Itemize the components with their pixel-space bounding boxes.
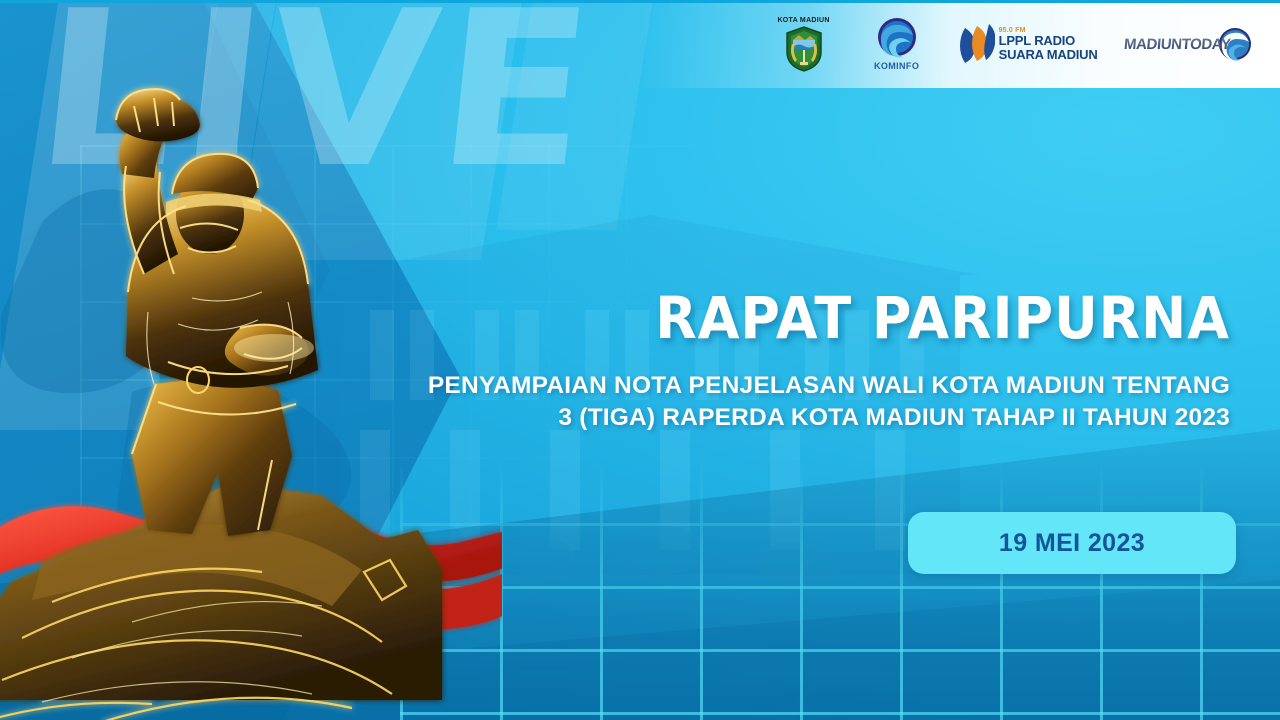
- background-grid-bottomright: [400, 460, 1280, 720]
- broadcast-logo-strip: KOTA MADIUN KOMINFO: [640, 0, 1280, 88]
- logo-kominfo: KOMINFO: [861, 17, 933, 71]
- kota-madiun-shield-icon: [784, 26, 824, 72]
- logo-kota-madiun: KOTA MADIUN: [773, 17, 835, 72]
- lppl-line-2: SUARA MADIUN: [999, 48, 1098, 61]
- page-title: RAPAT PARIPURNA: [655, 284, 1230, 352]
- top-edge-accent: [0, 0, 1280, 3]
- kota-madiun-label: KOTA MADIUN: [777, 17, 829, 24]
- event-date-badge: 19 MEI 2023: [908, 512, 1236, 574]
- kominfo-label: KOMINFO: [874, 61, 919, 71]
- lppl-line-1: LPPL RADIO: [999, 34, 1098, 47]
- livestream-title-card: LIVE: [0, 0, 1280, 720]
- subtitle-line-2: 3 (TIGA) RAPERDA KOTA MADIUN TAHAP II TA…: [310, 402, 1230, 434]
- subtitle-line-1: PENYAMPAIAN NOTA PENJELASAN WALI KOTA MA…: [428, 372, 1230, 399]
- subtitle-block: PENYAMPAIAN NOTA PENJELASAN WALI KOTA MA…: [310, 370, 1230, 435]
- logo-madiuntoday: MADIUNTODAY: [1124, 27, 1252, 61]
- logo-lppl-radio-suara-madiun: 95.0 FM LPPL RADIO SUARA MADIUN: [959, 24, 1098, 64]
- madiuntoday-label: MADIUNTODAY: [1123, 36, 1231, 53]
- kominfo-wave-icon: [875, 17, 919, 59]
- lppl-signal-icon: [959, 24, 995, 64]
